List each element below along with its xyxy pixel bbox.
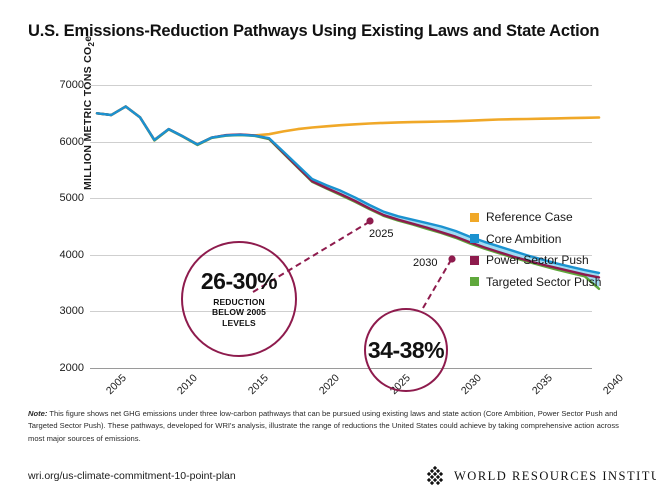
legend-label: Power Sector Push: [486, 253, 589, 267]
legend-label: Targeted Sector Push: [486, 275, 601, 289]
wri-logo: WORLD RESOURCES INSTITUTE: [425, 466, 656, 486]
curve-year-label-2025: 2025: [369, 228, 393, 240]
legend-swatch-icon: [470, 213, 479, 222]
y-tick-4000: 4000: [60, 249, 84, 261]
legend-item-core-ambition: Core Ambition: [470, 232, 601, 246]
curve-year-label-2030: 2030: [413, 257, 437, 269]
chart-container: MILLION METRIC TONS CO2e 7000 6000 5000 …: [0, 70, 656, 390]
legend-label: Reference Case: [486, 210, 573, 224]
source-url[interactable]: wri.org/us-climate-commitment-10-point-p…: [28, 470, 236, 482]
figure-note: Note: This figure shows net GHG emission…: [28, 408, 632, 445]
legend: Reference Case Core Ambition Power Secto…: [470, 210, 601, 296]
chart-page: U.S. Emissions-Reduction Pathways Using …: [0, 0, 656, 497]
legend-label: Core Ambition: [486, 232, 561, 246]
legend-item-targeted-sector-push: Targeted Sector Push: [470, 275, 601, 289]
x-tick-2020: 2020: [317, 372, 342, 397]
y-tick-7000: 7000: [60, 79, 84, 91]
callout-34-38: 34-38%: [364, 308, 448, 392]
line-reference-case: [97, 107, 599, 145]
footer-divider: [28, 449, 632, 450]
callout-value: 34-38%: [368, 339, 444, 362]
legend-swatch-icon: [470, 277, 479, 286]
x-tick-2030: 2030: [459, 372, 484, 397]
x-tick-2040: 2040: [601, 372, 626, 397]
legend-swatch-icon: [470, 234, 479, 243]
x-tick-2035: 2035: [530, 372, 555, 397]
page-title: U.S. Emissions-Reduction Pathways Using …: [28, 22, 599, 41]
callout-description: REDUCTION BELOW 2005 LEVELS: [212, 297, 266, 328]
gridline-2000: [90, 368, 592, 369]
wri-wordmark: WORLD RESOURCES INSTITUTE: [454, 469, 656, 484]
x-tick-2015: 2015: [246, 372, 271, 397]
legend-item-power-sector-push: Power Sector Push: [470, 253, 601, 267]
y-tick-6000: 6000: [60, 136, 84, 148]
y-tick-5000: 5000: [60, 192, 84, 204]
y-tick-2000: 2000: [60, 362, 84, 374]
x-tick-2005: 2005: [104, 372, 129, 397]
y-tick-3000: 3000: [60, 305, 84, 317]
legend-swatch-icon: [470, 256, 479, 265]
x-tick-2010: 2010: [175, 372, 200, 397]
wri-diamond-lattice-icon: [425, 466, 445, 486]
legend-item-reference-case: Reference Case: [470, 210, 601, 224]
callout-value: 26-30%: [201, 270, 277, 293]
callout-26-30: 26-30% REDUCTION BELOW 2005 LEVELS: [181, 241, 297, 357]
